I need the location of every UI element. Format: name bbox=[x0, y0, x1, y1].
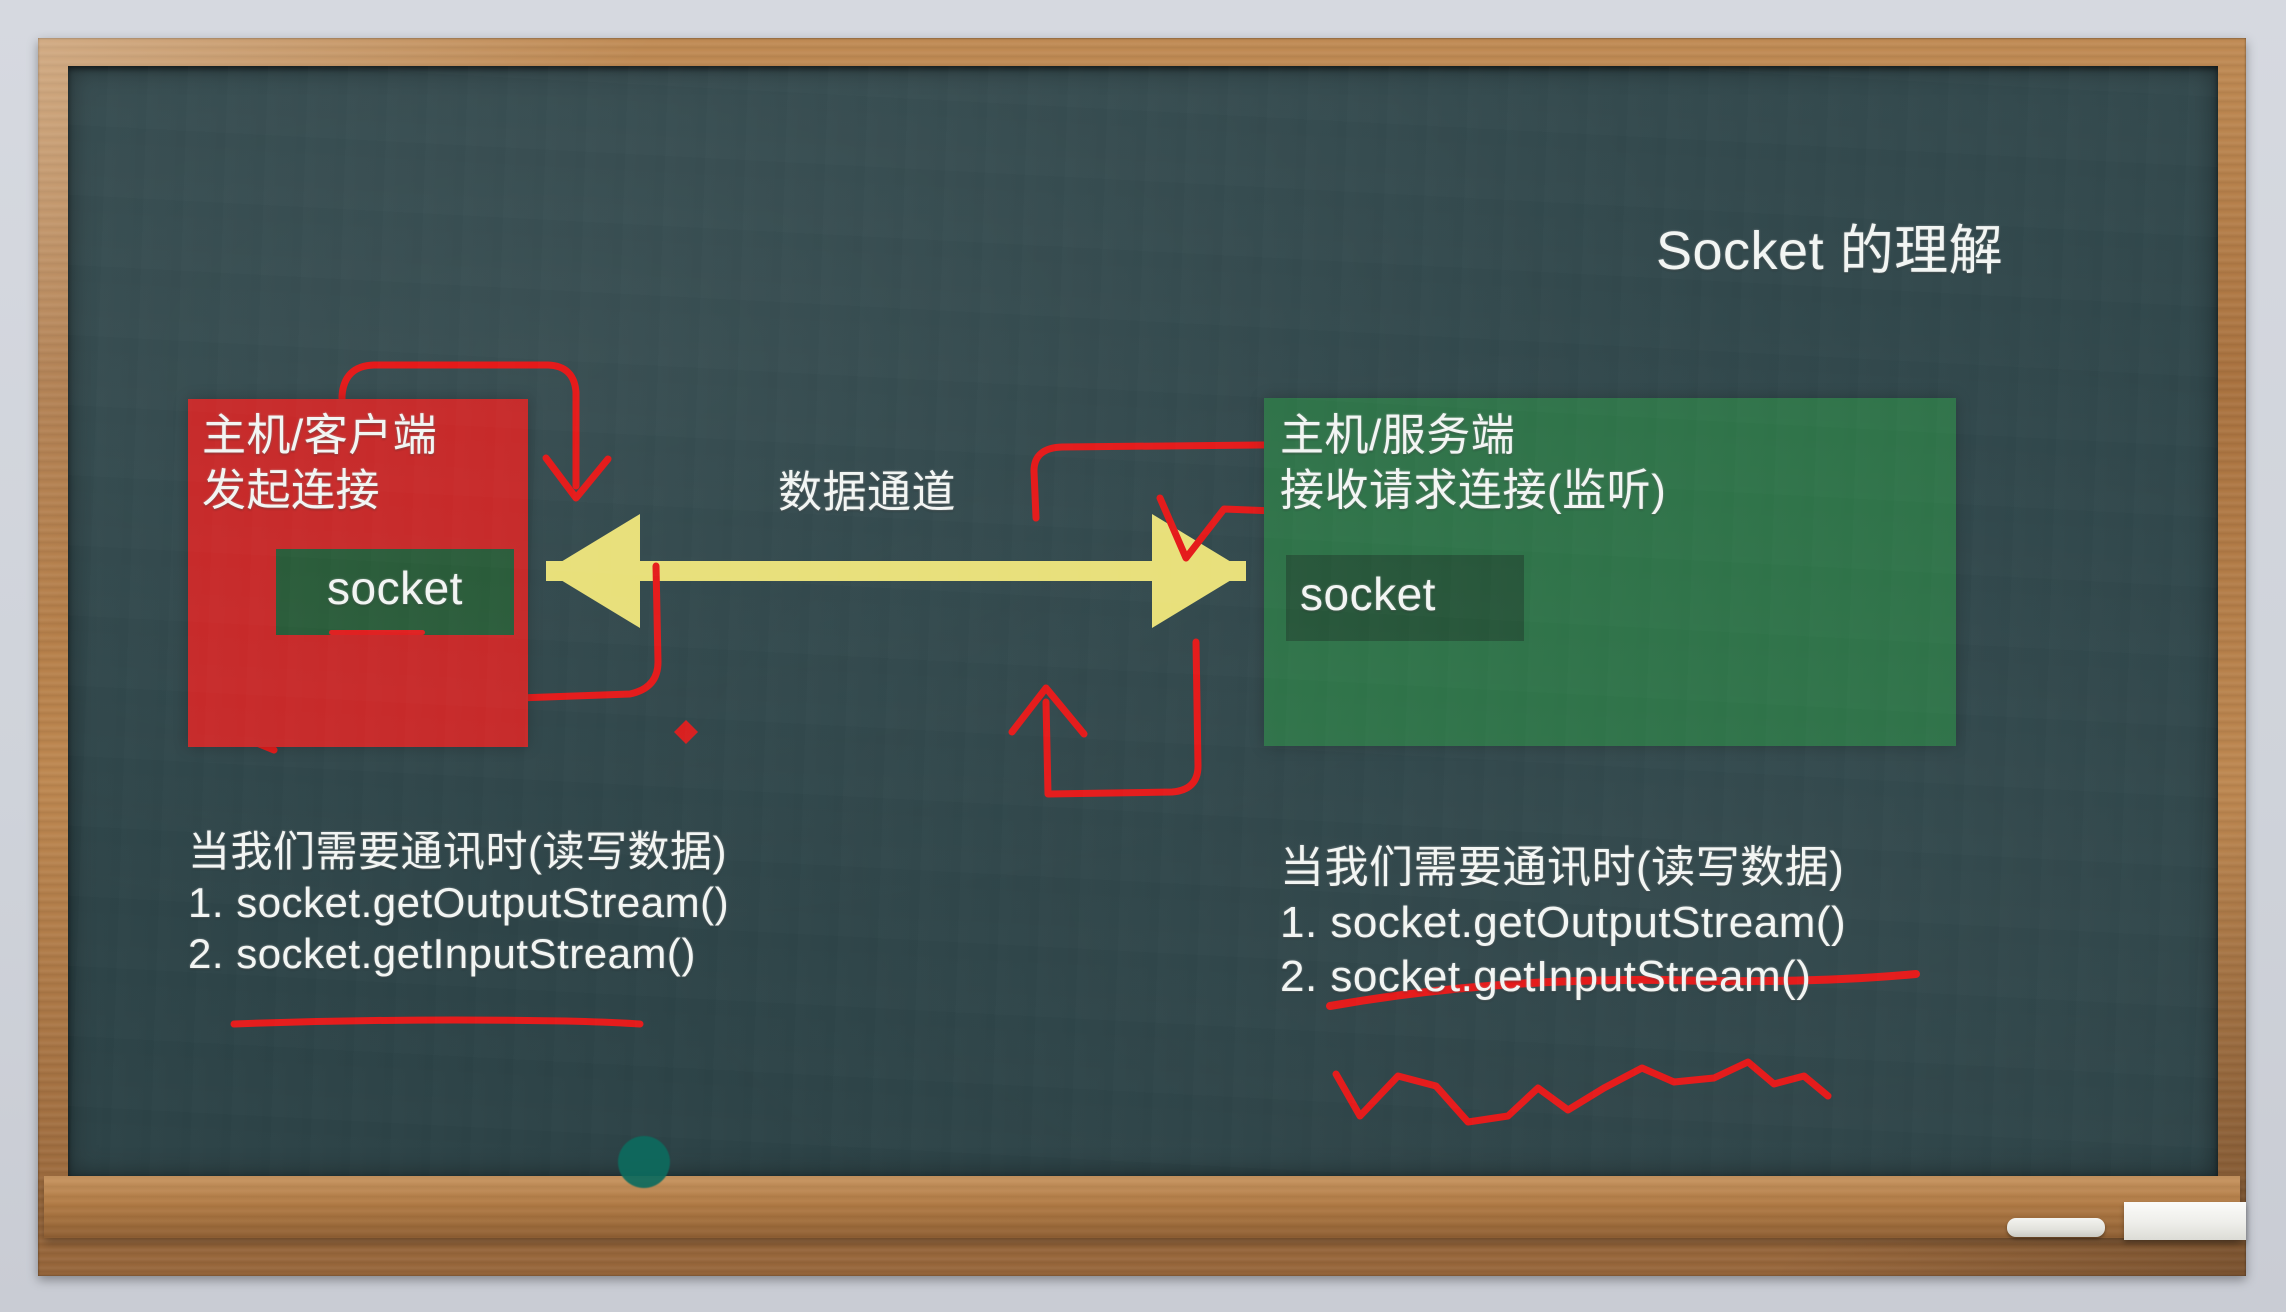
client-socket-box: socket bbox=[276, 549, 514, 635]
page-title: Socket 的理解 bbox=[1656, 206, 2003, 285]
client-heading-line-2: 发起连接 bbox=[202, 463, 437, 518]
server-notes-intro: 当我们需要通讯时(读写数据) bbox=[1280, 841, 1846, 896]
client-host-heading: 主机/客户端 发起连接 bbox=[202, 408, 437, 519]
client-notes-intro: 当我们需要通讯时(读写数据) bbox=[188, 826, 729, 877]
server-host-heading: 主机/服务端 接收请求连接(监听) bbox=[1280, 408, 1666, 519]
cursor-dot bbox=[618, 1136, 670, 1188]
board-eraser-icon[interactable] bbox=[2124, 1202, 2246, 1240]
right-getinputstream-squiggle bbox=[1336, 1062, 1828, 1122]
chalkboard-surface: Socket 的理解 主机/客户端 发起连接 socket 主机/服务端 接收请… bbox=[68, 66, 2218, 1176]
chalk-stick-icon[interactable] bbox=[2007, 1218, 2105, 1237]
left-getoutputstream-underline bbox=[234, 1020, 640, 1024]
server-socket-label: socket bbox=[1300, 567, 1436, 621]
chalk-ledge bbox=[44, 1176, 2240, 1238]
client-notes-item-2: 2. socket.getInputStream() bbox=[188, 928, 729, 979]
stray-red-mark bbox=[674, 720, 698, 744]
client-socket-underline bbox=[329, 630, 425, 635]
data-channel-arrow bbox=[546, 514, 1246, 628]
client-heading-line-1: 主机/客户端 bbox=[202, 408, 437, 463]
server-notes-block: 当我们需要通讯时(读写数据) 1. socket.getOutputStream… bbox=[1280, 841, 1846, 1005]
client-socket-label: socket bbox=[276, 561, 514, 615]
client-notes-item-1: 1. socket.getOutputStream() bbox=[188, 877, 729, 928]
server-notes-item-1: 1. socket.getOutputStream() bbox=[1280, 896, 1846, 951]
server-heading-line-1: 主机/服务端 bbox=[1280, 408, 1666, 463]
server-socket-box: socket bbox=[1286, 555, 1524, 641]
server-heading-line-2: 接收请求连接(监听) bbox=[1280, 463, 1666, 518]
client-notes-block: 当我们需要通讯时(读写数据) 1. socket.getOutputStream… bbox=[188, 826, 729, 980]
server-notes-item-2: 2. socket.getInputStream() bbox=[1280, 950, 1846, 1005]
data-channel-label: 数据通道 bbox=[778, 456, 956, 520]
